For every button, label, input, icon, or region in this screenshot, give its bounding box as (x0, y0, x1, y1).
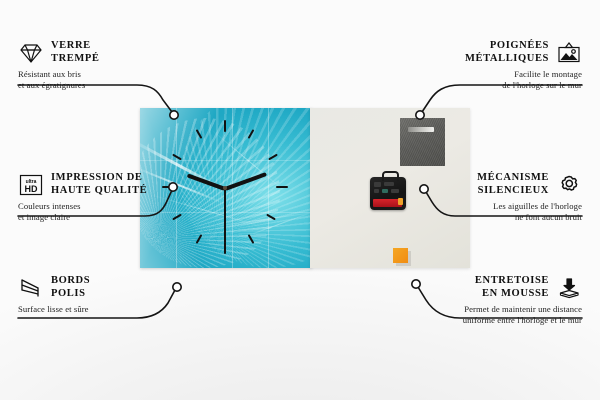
feature-title: POIGNÉES MÉTALLIQUES (465, 40, 549, 65)
diamond-icon (18, 42, 44, 64)
feature-mecanisme-silencieux: MÉCANISME SILENCIEUX Les aiguilles de l'… (382, 172, 582, 222)
feature-subtitle: Permet de maintenir une distance uniform… (372, 304, 582, 325)
leader-endpoint (170, 111, 178, 119)
gear-icon (556, 174, 582, 196)
feature-header: VERRE TREMPÉ (18, 40, 208, 65)
feature-header: BORDS POLIS (18, 275, 208, 300)
feature-entretoise-en-mousse: ENTRETOISE EN MOUSSE Permet de maintenir… (372, 275, 582, 325)
feature-poignees-metalliques: POIGNÉES MÉTALLIQUES Facilite le montage… (392, 40, 582, 90)
polished-edges-icon (18, 277, 44, 299)
ultra-hd-icon: ultra HD (18, 174, 44, 196)
feature-title: BORDS POLIS (51, 275, 90, 300)
feature-header: MÉCANISME SILENCIEUX (382, 172, 582, 197)
feature-impression-haute-qualite: ultra HD IMPRESSION DE HAUTE QUALITÉ Cou… (18, 172, 218, 222)
feature-subtitle: Couleurs intenses et image claire (18, 201, 218, 222)
svg-text:HD: HD (25, 184, 38, 194)
foam-spacer-icon (556, 277, 582, 299)
feature-subtitle: Facilite le montage de l'horloge sur le … (392, 69, 582, 90)
feature-bords-polis: BORDS POLIS Surface lisse et sûre (18, 275, 208, 315)
feature-subtitle: Surface lisse et sûre (18, 304, 208, 315)
feature-title: IMPRESSION DE HAUTE QUALITÉ (51, 172, 147, 197)
picture-frame-hanger-icon (556, 42, 582, 64)
feature-subtitle: Résistant aux bris et aux égratignures (18, 69, 208, 90)
feature-subtitle: Les aiguilles de l'horloge ne font aucun… (382, 201, 582, 222)
feature-verre-trempe: VERRE TREMPÉ Résistant aux bris et aux é… (18, 40, 208, 90)
feature-header: ENTRETOISE EN MOUSSE (372, 275, 582, 300)
feature-title: ENTRETOISE EN MOUSSE (475, 275, 549, 300)
feature-title: MÉCANISME SILENCIEUX (477, 172, 549, 197)
infographic-canvas: VERRE TREMPÉ Résistant aux bris et aux é… (0, 0, 600, 400)
feature-title: VERRE TREMPÉ (51, 40, 100, 65)
feature-header: POIGNÉES MÉTALLIQUES (392, 40, 582, 65)
feature-header: ultra HD IMPRESSION DE HAUTE QUALITÉ (18, 172, 218, 197)
leader-endpoint (416, 111, 424, 119)
